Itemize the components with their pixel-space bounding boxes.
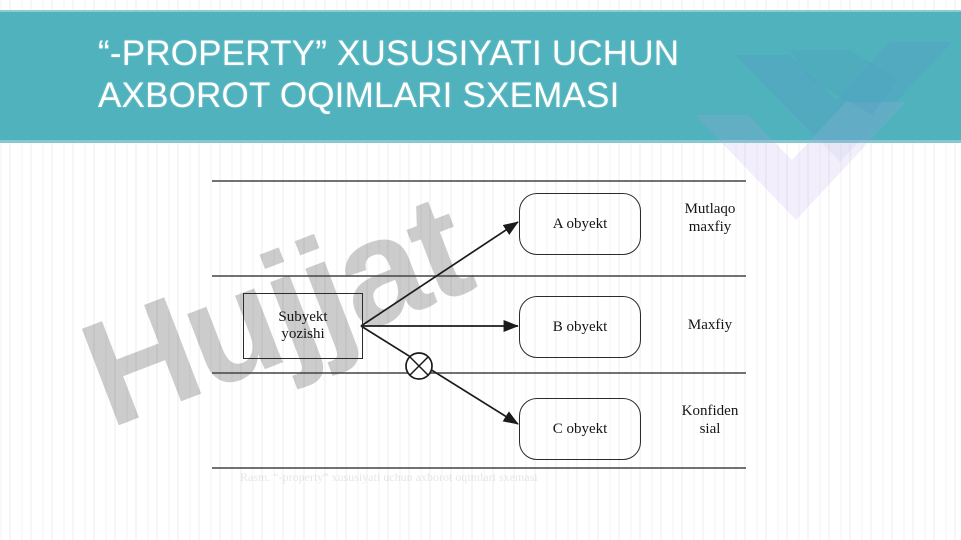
blocked-flow-crossed-circle-icon (406, 353, 432, 379)
diagram-caption: Rasm. “-property” xususiyati uchun axbor… (240, 470, 760, 485)
slide-canvas: Hujjat “-PROPERTY” XUSUSIYATI UCHUN AXBO… (0, 0, 961, 540)
classification-label-a: Mutlaqo maxfiy (655, 200, 765, 236)
page-title: “-PROPERTY” XUSUSIYATI UCHUN AXBOROT OQI… (98, 33, 888, 117)
object-node-c: C obyekt (519, 398, 641, 460)
subject-node-label: Subyekt yozishi (278, 309, 327, 343)
header-bottom-edge (0, 140, 961, 143)
object-node-a: A obyekt (519, 193, 641, 255)
subject-node: Subyekt yozishi (243, 293, 363, 359)
flow-arrow-to-c (361, 326, 518, 424)
classification-label-c: Konfiden sial (655, 402, 765, 438)
object-node-c-label: C obyekt (553, 421, 608, 438)
object-node-b: B obyekt (519, 296, 641, 358)
header-top-edge (0, 10, 961, 12)
object-node-b-label: B obyekt (553, 319, 608, 336)
flow-arrow-to-a (361, 222, 518, 326)
classification-label-b: Maxfiy (655, 316, 765, 334)
object-node-a-label: A obyekt (553, 216, 608, 233)
